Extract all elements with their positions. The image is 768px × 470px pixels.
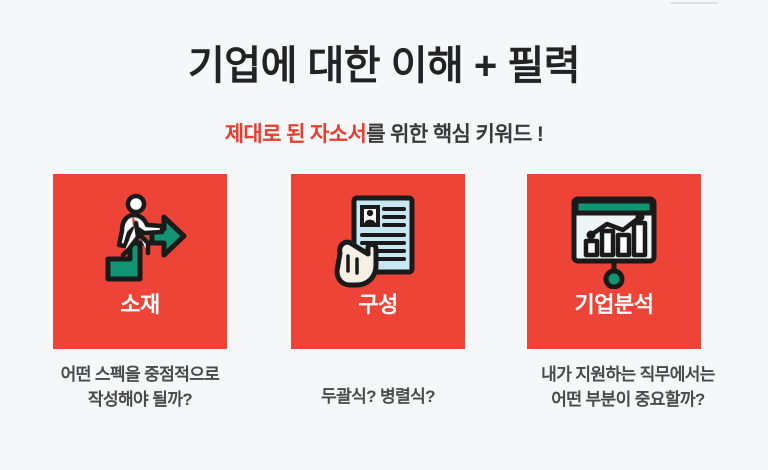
- person-climbing-stairs-arrow-icon: [92, 192, 188, 290]
- presentation-bar-chart-icon: [566, 192, 662, 290]
- page-title: 기업에 대한 이해 + 필력: [0, 44, 768, 88]
- caption-line: 두괄식? 병렬식?: [248, 385, 508, 410]
- infographic-slide: 기업에 대한 이해 + 필력 제대로 된 자소서를 위한 핵심 키워드 !: [0, 0, 768, 470]
- page-subtitle: 제대로 된 자소서를 위한 핵심 키워드 !: [0, 118, 768, 148]
- keyword-card-label: 구성: [358, 294, 397, 316]
- top-divider-line: [670, 2, 718, 4]
- caption-line: 작성해야 될까?: [10, 388, 270, 413]
- keyword-card-guseong[interactable]: 구성: [291, 174, 465, 349]
- keyword-card-gieopbunseok[interactable]: 기업분석: [527, 174, 701, 349]
- caption-line: 어떤 스펙을 중점적으로: [10, 363, 270, 388]
- keyword-card-label: 기업분석: [575, 294, 654, 316]
- subtitle-accent-text: 제대로 된 자소서: [225, 123, 367, 146]
- caption-gieopbunseok: 내가 지원하는 직무에서는 어떤 부분이 중요할까?: [498, 363, 758, 412]
- subtitle-rest-text: 를 위한 핵심 키워드 !: [366, 123, 543, 146]
- caption-line: 어떤 부분이 중요할까?: [498, 388, 758, 413]
- keyword-card-label: 소재: [120, 294, 159, 316]
- keyword-card-group: 소재: [0, 174, 768, 349]
- caption-sojae: 어떤 스펙을 중점적으로 작성해야 될까?: [10, 363, 270, 412]
- hand-holding-resume-document-icon: [332, 192, 424, 290]
- caption-line: 내가 지원하는 직무에서는: [498, 363, 758, 388]
- caption-guseong: 두괄식? 병렬식?: [248, 385, 508, 410]
- keyword-card-sojae[interactable]: 소재: [53, 174, 227, 349]
- caption-group: 어떤 스펙을 중점적으로 작성해야 될까? 두괄식? 병렬식? 내가 지원하는 …: [0, 363, 768, 433]
